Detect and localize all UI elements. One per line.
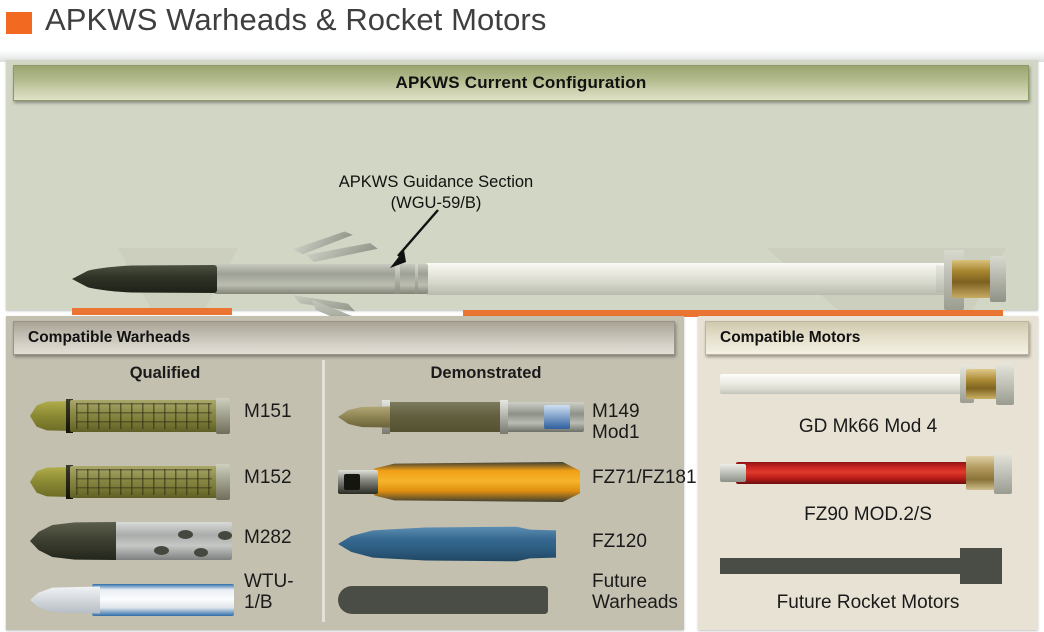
page-title: APKWS Warheads & Rocket Motors bbox=[45, 2, 546, 38]
fz90-skirt bbox=[994, 452, 1012, 494]
m149-mid-body bbox=[386, 402, 508, 432]
m149-band-2 bbox=[500, 400, 508, 434]
warhead-label-wtu-1b: WTU- 1/B bbox=[244, 572, 294, 613]
motor-item-fz90-mod2s: FZ90 MOD.2/S bbox=[720, 462, 1016, 538]
m149-fuze bbox=[544, 405, 570, 429]
m152-grid-pattern bbox=[76, 469, 212, 495]
motors-panel-header: Compatible Motors bbox=[705, 321, 1029, 355]
rocket-motor-tube bbox=[426, 263, 956, 295]
warhead-item-m149-mod1: M149 Mod1 bbox=[338, 392, 678, 450]
motor-label-future-rocket-motors: Future Rocket Motors bbox=[720, 592, 1016, 614]
compatible-warheads-panel: Compatible Warheads Qualified Demonstrat… bbox=[6, 316, 684, 630]
config-panel-header: APKWS Current Configuration bbox=[13, 65, 1029, 101]
warhead-item-fz120: FZ120 bbox=[338, 518, 678, 576]
m282-port-2 bbox=[218, 531, 232, 540]
fz120-body bbox=[338, 526, 556, 562]
m151-grid-pattern bbox=[76, 403, 212, 429]
warhead-item-wtu-1b: WTU- 1/B bbox=[30, 574, 320, 632]
warhead-item-fz71-fz181: FZ71/FZ181 bbox=[338, 456, 678, 514]
fz90-head bbox=[720, 464, 746, 482]
future-warhead-silhouette bbox=[338, 586, 548, 614]
motor-label-gd-mk66-mod4: GD Mk66 Mod 4 bbox=[720, 416, 1016, 438]
warheads-column-title-demonstrated: Demonstrated bbox=[336, 364, 636, 383]
motor-label-fz90-mod2s: FZ90 MOD.2/S bbox=[720, 504, 1016, 526]
measurement-bar-left bbox=[72, 308, 232, 315]
annotation-line-1: APKWS Guidance Section bbox=[306, 172, 566, 193]
warhead-item-m151: M151 bbox=[30, 392, 320, 450]
m282-body bbox=[110, 522, 232, 560]
m282-port-1 bbox=[178, 530, 193, 539]
m149-nose bbox=[338, 406, 390, 428]
warheads-panel-header-label: Compatible Warheads bbox=[14, 329, 190, 347]
warheads-column-title-qualified: Qualified bbox=[30, 364, 300, 383]
wtu-1b-body bbox=[92, 584, 234, 616]
warheads-column-divider bbox=[322, 360, 325, 622]
warheads-panel-header: Compatible Warheads bbox=[13, 321, 675, 355]
warhead-label-m151: M151 bbox=[244, 402, 292, 423]
annotation-arrow-icon bbox=[384, 208, 444, 270]
future-motor-silhouette-head bbox=[960, 548, 1002, 584]
m282-nose bbox=[30, 522, 116, 560]
fz71-body bbox=[364, 462, 580, 502]
m282-port-3 bbox=[154, 546, 169, 555]
title-bar: APKWS Warheads & Rocket Motors bbox=[0, 0, 1044, 52]
rocket-nozzle-end bbox=[990, 256, 1006, 302]
motor-item-future-rocket-motors: Future Rocket Motors bbox=[720, 548, 1016, 624]
mk66-tube bbox=[720, 374, 972, 394]
warhead-label-wtu-1b-line2: 1/B bbox=[244, 593, 294, 614]
rocket-nozzle bbox=[952, 260, 994, 298]
warhead-label-m282: M282 bbox=[244, 528, 292, 549]
wtu-1b-nose bbox=[30, 586, 100, 614]
mk66-skirt bbox=[996, 363, 1014, 405]
motors-panel-header-label: Compatible Motors bbox=[706, 329, 860, 347]
warhead-label-future-line1: Future bbox=[592, 572, 678, 593]
fz71-cap bbox=[344, 474, 360, 490]
future-motor-silhouette-body bbox=[720, 558, 968, 574]
warhead-label-future-line2: Warheads bbox=[592, 593, 678, 614]
warhead-item-m282: M282 bbox=[30, 516, 320, 574]
apkws-configuration-panel: APKWS Current Configuration APKWS Guidan… bbox=[6, 60, 1038, 310]
fz90-tube bbox=[736, 462, 972, 484]
m152-tail bbox=[216, 464, 230, 500]
title-marker-icon bbox=[6, 12, 32, 34]
warhead-item-future-warheads: Future Warheads bbox=[338, 574, 678, 632]
m282-port-4 bbox=[194, 548, 208, 557]
motor-item-gd-mk66-mod4: GD Mk66 Mod 4 bbox=[720, 374, 1016, 450]
warhead-label-wtu-1b-line1: WTU- bbox=[244, 572, 294, 593]
m151-tail bbox=[216, 398, 230, 434]
warhead-label-m152: M152 bbox=[244, 468, 292, 489]
warhead-label-future-warheads: Future Warheads bbox=[592, 572, 678, 613]
warhead-label-fz120: FZ120 bbox=[592, 532, 647, 553]
compatible-motors-panel: Compatible Motors GD Mk66 Mod 4 FZ90 MOD… bbox=[698, 316, 1038, 630]
config-panel-header-label: APKWS Current Configuration bbox=[396, 73, 647, 93]
warhead-item-m152: M152 bbox=[30, 458, 320, 516]
warhead-label-fz71-fz181: FZ71/FZ181 bbox=[592, 468, 697, 489]
warhead-label-m149-mod1: M149 Mod1 bbox=[592, 402, 678, 443]
